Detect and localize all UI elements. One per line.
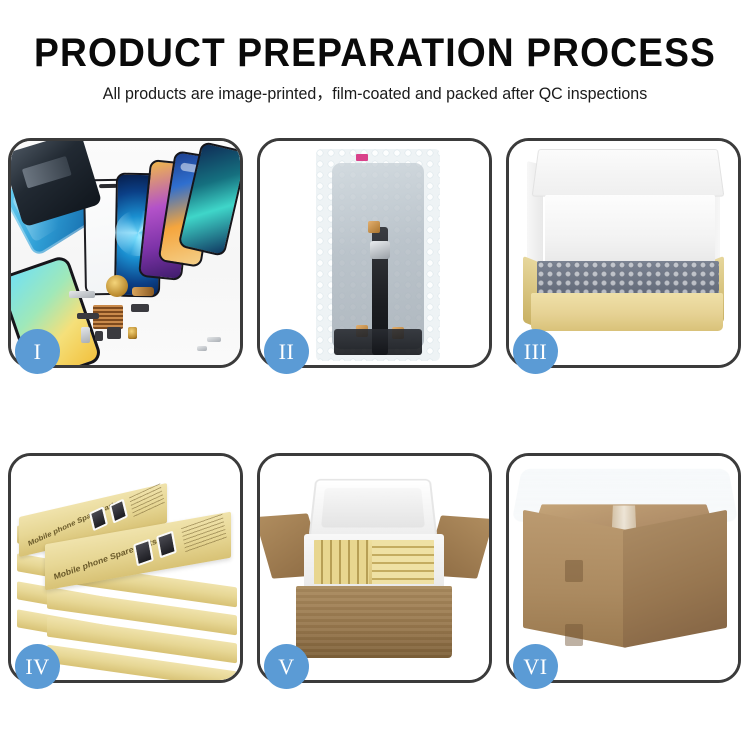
step-badge-5: V (264, 644, 309, 689)
box-artwork-screen (156, 531, 177, 559)
step-badge-1: I (15, 329, 60, 374)
gold-contact-component (128, 327, 137, 339)
step-badge-4: IV (15, 644, 60, 689)
step-badge-2: II (264, 329, 309, 374)
page-subtitle: All products are image-printed，film-coat… (11, 83, 739, 105)
camera-module-component (81, 327, 90, 343)
small-chip-component (131, 304, 149, 312)
screw-component (207, 337, 221, 342)
ribbon-component (77, 313, 99, 319)
qc-sticker (356, 154, 368, 161)
flex-cable-component (132, 287, 154, 296)
box-front-panel (531, 293, 723, 331)
step-panel-1: I (8, 138, 243, 368)
metal-bracket-component (69, 291, 95, 298)
process-step-grid: I II (8, 138, 742, 683)
screen-driver-ic (370, 241, 390, 259)
box-stack: Mobile phone Spare Parts Mobile phone Sp… (17, 478, 240, 668)
speaker-component (106, 275, 128, 297)
carton-handle-notch-top (565, 560, 583, 582)
button-component (95, 331, 103, 341)
box-lid (532, 149, 725, 197)
screw-component-2 (197, 346, 207, 351)
step-panel-6: VI (506, 453, 741, 683)
step-badge-6: VI (513, 644, 558, 689)
kraft-boxes-inside-foam (314, 540, 434, 584)
step-panel-3: III (506, 138, 741, 368)
screen-bottom-strip (334, 329, 422, 355)
box-spec-lines (181, 514, 227, 553)
bubble-wrap-bag (316, 149, 440, 361)
carton-handle-notch-bottom (565, 624, 583, 646)
step-badge-3: III (513, 329, 558, 374)
page-title: PRODUCT PREPARATION PROCESS (26, 30, 724, 76)
screen-connector-top (368, 221, 380, 233)
vibrator-component (107, 327, 121, 339)
box-spec-lines (129, 483, 165, 518)
product-preparation-infographic: PRODUCT PREPARATION PROCESS All products… (0, 0, 750, 750)
step-panel-5: V (257, 453, 492, 683)
box-artwork-screen (133, 539, 154, 567)
carton-body (296, 586, 452, 658)
carton-right-face (623, 510, 727, 648)
foam-sheet (545, 195, 715, 265)
foam-box-lid (308, 479, 437, 539)
header: PRODUCT PREPARATION PROCESS All products… (0, 0, 750, 105)
step-panel-2: II (257, 138, 492, 368)
step-panel-4: Mobile phone Spare Parts Mobile phone Sp… (8, 453, 243, 683)
